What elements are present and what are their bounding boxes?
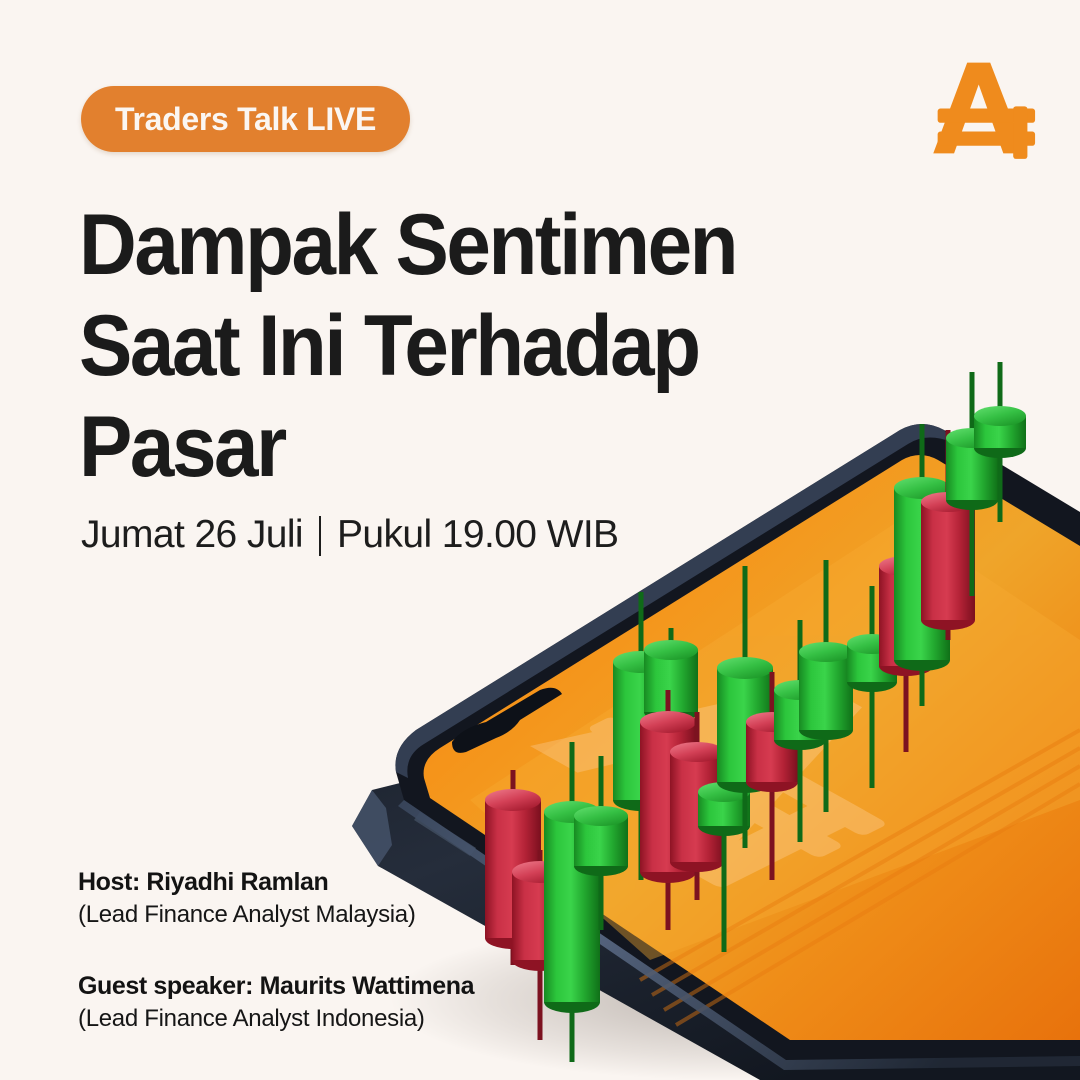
promo-poster: Traders Talk LIVE Dampak Sentimen Saat I… (0, 0, 1080, 1080)
guest-speaker-name: Guest speaker: Maurits Wattimena (78, 970, 598, 1002)
host-block: Host: Riyadhi Ramlan (Lead Finance Analy… (78, 866, 598, 932)
speakers-list: Host: Riyadhi Ramlan (Lead Finance Analy… (78, 866, 598, 1074)
live-badge[interactable]: Traders Talk LIVE (81, 86, 410, 152)
title-line-3: Pasar (79, 397, 786, 498)
event-date: Jumat 26 Juli (81, 513, 303, 557)
guest-speaker-role: (Lead Finance Analyst Indonesia) (78, 1002, 598, 1036)
title-line-1: Dampak Sentimen (79, 195, 786, 296)
live-badge-label: Traders Talk LIVE (115, 101, 376, 138)
guest-speaker-block: Guest speaker: Maurits Wattimena (Lead F… (78, 970, 598, 1036)
title-line-2: Saat Ini Terhadap (79, 296, 786, 397)
host-name: Host: Riyadhi Ramlan (78, 866, 598, 898)
page-title: Dampak Sentimen Saat Ini Terhadap Pasar (79, 195, 839, 498)
host-role: (Lead Finance Analyst Malaysia) (78, 898, 598, 932)
event-time: Pukul 19.00 WIB (337, 513, 618, 557)
event-datetime: Jumat 26 Juli Pukul 19.00 WIB (81, 513, 618, 557)
datetime-separator (319, 516, 321, 556)
letter-a-logo-icon (932, 56, 1044, 160)
